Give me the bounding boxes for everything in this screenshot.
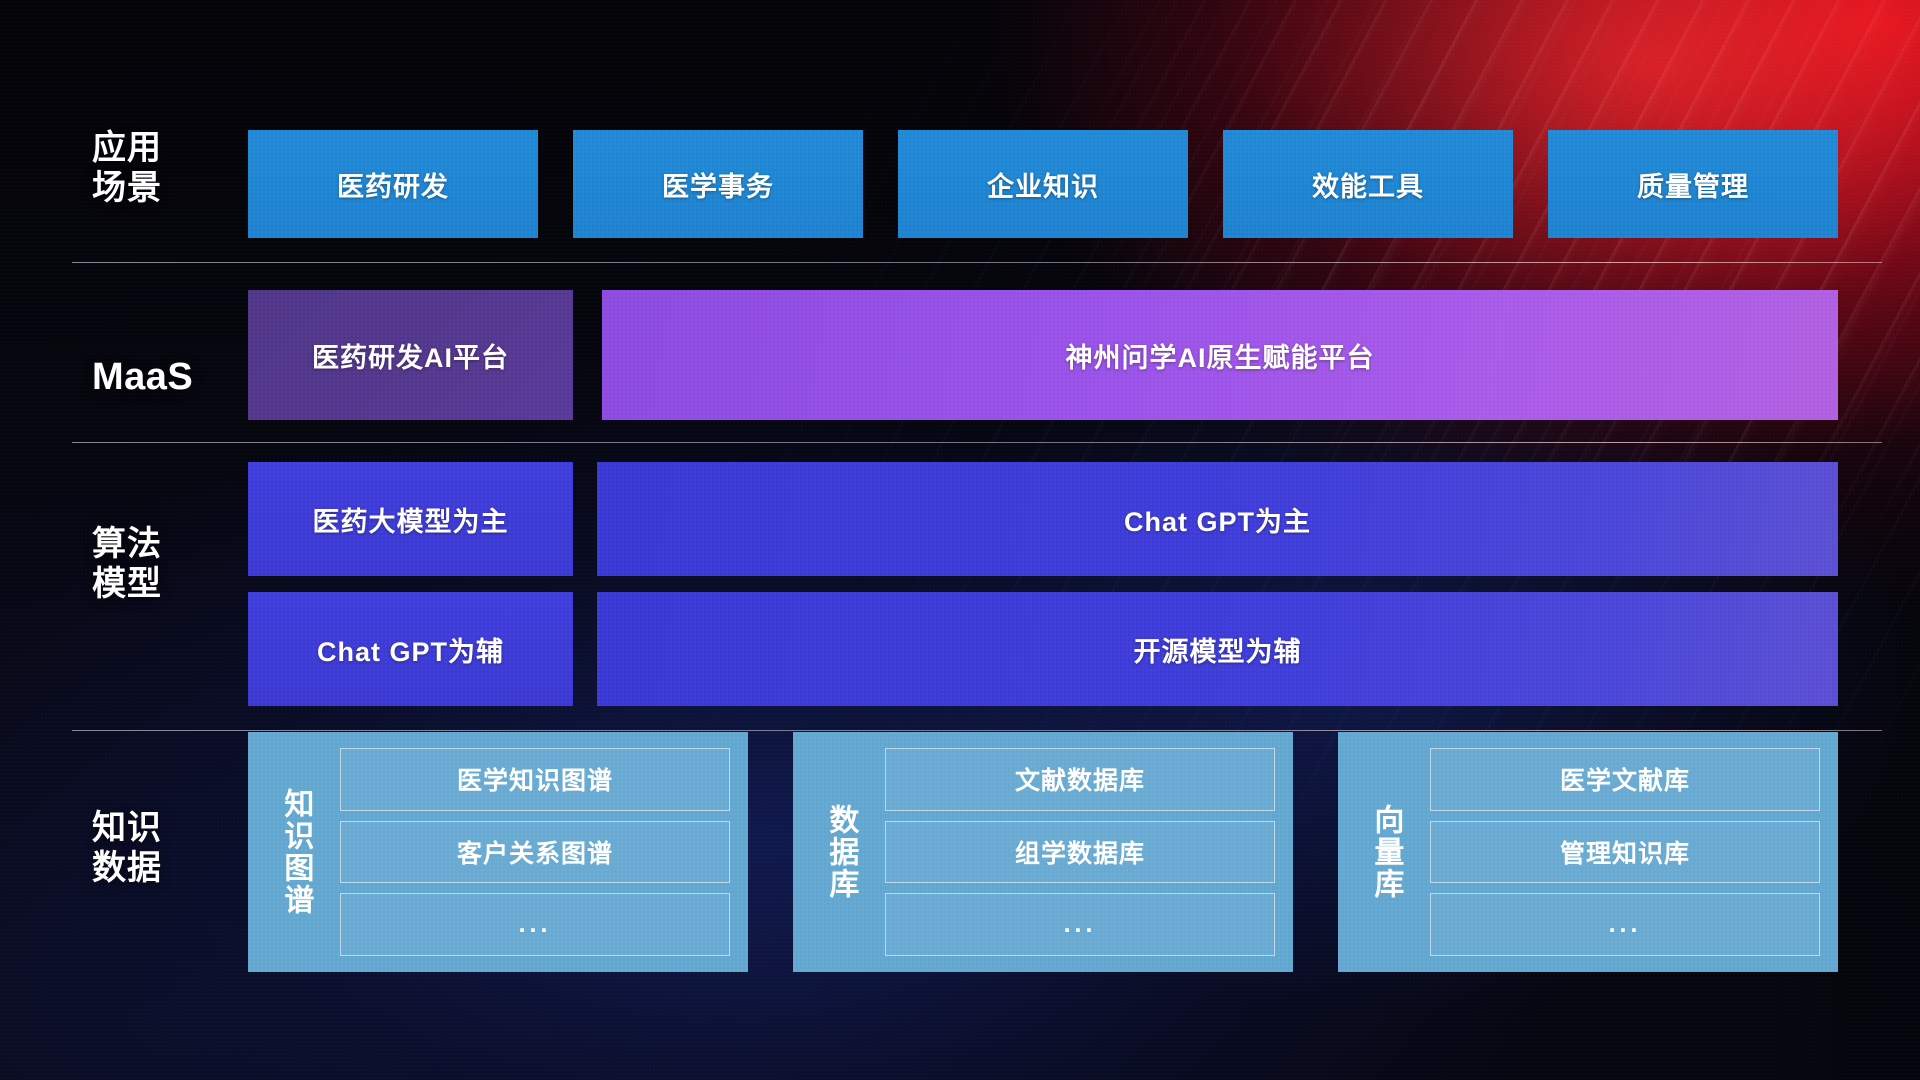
app-box-quality-management[interactable]: 质量管理 xyxy=(1548,130,1838,238)
knowledge-panel-title: 知识图谱 xyxy=(264,748,326,956)
knowledge-panel-item-list: 医学知识图谱 客户关系图谱 ... xyxy=(340,748,730,956)
knowledge-panel-item-list: 医学文献库 管理知识库 ... xyxy=(1430,748,1820,956)
row-label-line1: 应用 xyxy=(92,128,202,168)
row-label-text: MaaS xyxy=(92,355,202,400)
app-box-medicine-rd[interactable]: 医药研发 xyxy=(248,130,538,238)
maas-box-shenzhou-wenxue-platform[interactable]: 神州问学AI原生赋能平台 xyxy=(602,290,1838,420)
row-label-line2: 数据 xyxy=(92,848,202,888)
app-box-label: 质量管理 xyxy=(1637,165,1749,204)
model-box-label: Chat GPT为主 xyxy=(1124,500,1311,539)
model-box-label: 医药大模型为主 xyxy=(313,500,509,539)
architecture-diagram-slide: 应用 场景 医药研发 医学事务 企业知识 效能工具 质量管理 Maa xyxy=(0,0,1920,1080)
knowledge-panel-title: 数据库 xyxy=(809,748,871,956)
knowledge-panel-item[interactable]: 医学文献库 xyxy=(1430,748,1820,811)
knowledge-panel-item-more[interactable]: ... xyxy=(885,893,1275,956)
app-box-label: 企业知识 xyxy=(987,165,1099,204)
model-box-label: 开源模型为辅 xyxy=(1134,630,1302,669)
app-box-label: 医药研发 xyxy=(337,165,449,204)
row-maas: MaaS 医药研发AI平台 神州问学AI原生赋能平台 xyxy=(0,262,1920,448)
app-box-enterprise-knowledge[interactable]: 企业知识 xyxy=(898,130,1188,238)
knowledge-panel-item[interactable]: 医学知识图谱 xyxy=(340,748,730,811)
row-knowledge-data: 知识 数据 知识图谱 医学知识图谱 客户关系图谱 ... 数据库 文献数据库 组… xyxy=(0,730,1920,1080)
row-label-line1: 知识 xyxy=(92,808,202,848)
row-label-maas: MaaS xyxy=(92,355,202,400)
row-label-application-scenarios: 应用 场景 xyxy=(92,128,202,208)
knowledge-panel-vector-store[interactable]: 向量库 医学文献库 管理知识库 ... xyxy=(1338,732,1838,972)
row-label-algorithm-model: 算法 模型 xyxy=(92,524,202,604)
row-label-line2: 场景 xyxy=(92,168,202,208)
maas-box-label: 医药研发AI平台 xyxy=(312,336,509,375)
knowledge-panel-knowledge-graph[interactable]: 知识图谱 医学知识图谱 客户关系图谱 ... xyxy=(248,732,748,972)
row-label-line1: 算法 xyxy=(92,524,202,564)
knowledge-panel-item[interactable]: 文献数据库 xyxy=(885,748,1275,811)
row-label-line2: 模型 xyxy=(92,564,202,604)
app-box-medical-affairs[interactable]: 医学事务 xyxy=(573,130,863,238)
row-algorithm-model: 算法 模型 医药大模型为主 Chat GPT为主 Chat GPT为辅 开源模型… xyxy=(0,442,1920,702)
knowledge-panel-title: 向量库 xyxy=(1354,748,1416,956)
knowledge-panel-item-list: 文献数据库 组学数据库 ... xyxy=(885,748,1275,956)
knowledge-panel-item[interactable]: 客户关系图谱 xyxy=(340,821,730,884)
maas-box-label: 神州问学AI原生赋能平台 xyxy=(1066,336,1375,375)
model-box-chatgpt-primary[interactable]: Chat GPT为主 xyxy=(597,462,1838,576)
row-label-knowledge-data: 知识 数据 xyxy=(92,808,202,888)
knowledge-panel-item-more[interactable]: ... xyxy=(1430,893,1820,956)
knowledge-panel-item[interactable]: 管理知识库 xyxy=(1430,821,1820,884)
app-box-label: 效能工具 xyxy=(1312,165,1424,204)
knowledge-panel-item-more[interactable]: ... xyxy=(340,893,730,956)
knowledge-panel-database[interactable]: 数据库 文献数据库 组学数据库 ... xyxy=(793,732,1293,972)
row-application-scenarios: 应用 场景 医药研发 医学事务 企业知识 效能工具 质量管理 xyxy=(0,0,1920,270)
app-box-efficiency-tools[interactable]: 效能工具 xyxy=(1223,130,1513,238)
model-box-chatgpt-secondary[interactable]: Chat GPT为辅 xyxy=(248,592,573,706)
model-box-opensource-secondary[interactable]: 开源模型为辅 xyxy=(597,592,1838,706)
maas-box-medicine-rd-ai-platform[interactable]: 医药研发AI平台 xyxy=(248,290,573,420)
app-box-label: 医学事务 xyxy=(662,165,774,204)
knowledge-panel-item[interactable]: 组学数据库 xyxy=(885,821,1275,884)
model-box-label: Chat GPT为辅 xyxy=(317,630,504,669)
model-box-medicine-large-model-primary[interactable]: 医药大模型为主 xyxy=(248,462,573,576)
